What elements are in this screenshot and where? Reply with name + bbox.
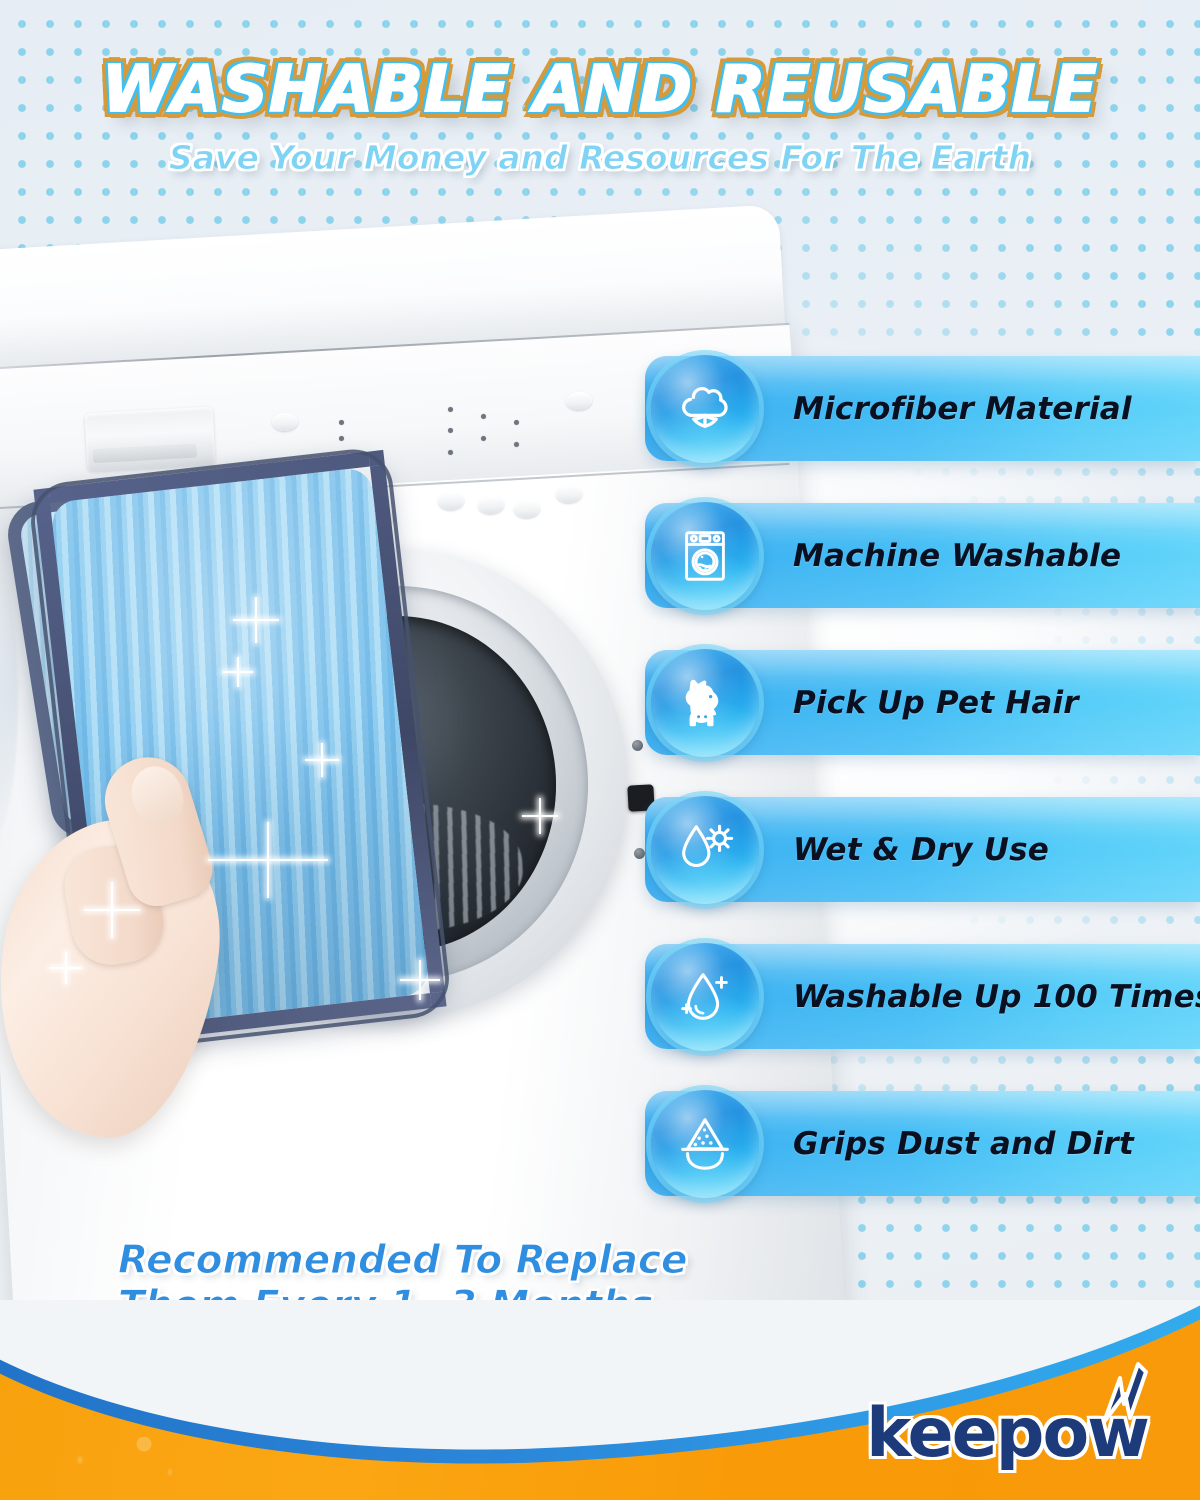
panel-indicator bbox=[339, 420, 344, 425]
feature-row-microfiber-material[interactable]: Microfiber Material bbox=[645, 356, 1200, 461]
feature-row-pick-up-pet-hair[interactable]: Pick Up Pet Hair bbox=[645, 650, 1200, 755]
feature-label: Pick Up Pet Hair bbox=[793, 685, 1079, 721]
panel-indicator bbox=[514, 420, 519, 425]
feature-row-wet-and-dry-use[interactable]: Wet & Dry Use bbox=[645, 797, 1200, 902]
panel-indicator bbox=[448, 407, 453, 412]
cotton-boll-icon bbox=[651, 355, 759, 463]
feature-row-washable-up-100-times[interactable]: Washable Up 100 Times bbox=[645, 944, 1200, 1049]
feature-list: Microfiber Material bbox=[645, 356, 1200, 1238]
feature-row-machine-washable[interactable]: Machine Washable bbox=[645, 503, 1200, 608]
panel-indicator bbox=[481, 414, 486, 419]
feature-label: Machine Washable bbox=[793, 538, 1121, 574]
panel-indicator bbox=[448, 450, 453, 455]
dust-grip-icon bbox=[651, 1090, 759, 1198]
dog-and-cat-icon bbox=[651, 649, 759, 757]
droplet-sparkle-icon bbox=[651, 943, 759, 1051]
panel-indicator bbox=[514, 442, 519, 447]
door-screw bbox=[632, 740, 643, 751]
infographic-page: WASHABLE AND REUSABLE Save Your Money an… bbox=[0, 0, 1200, 1500]
replacement-note-line1: Recommended To Replace bbox=[118, 1238, 687, 1283]
page-title: WASHABLE AND REUSABLE bbox=[102, 58, 1098, 122]
feature-label: Wet & Dry Use bbox=[793, 832, 1049, 868]
panel-indicator bbox=[481, 436, 486, 441]
detergent-drawer bbox=[84, 406, 215, 471]
feature-label: Microfiber Material bbox=[793, 391, 1132, 427]
page-subtitle: Save Your Money and Resources For The Ea… bbox=[0, 138, 1200, 177]
door-screw bbox=[634, 848, 645, 859]
header: WASHABLE AND REUSABLE Save Your Money an… bbox=[0, 58, 1200, 177]
footer-band: keepow bbox=[0, 1300, 1200, 1500]
feature-label: Washable Up 100 Times bbox=[793, 979, 1200, 1015]
panel-indicator bbox=[448, 428, 453, 433]
feature-row-grips-dust-and-dirt[interactable]: Grips Dust and Dirt bbox=[645, 1091, 1200, 1196]
washing-machine-icon bbox=[651, 502, 759, 610]
feature-label: Grips Dust and Dirt bbox=[793, 1126, 1134, 1162]
lightning-bolt-icon bbox=[1094, 1360, 1156, 1438]
droplet-and-sun-icon bbox=[651, 796, 759, 904]
hand-holding-pad bbox=[0, 740, 246, 1150]
panel-indicator bbox=[339, 436, 344, 441]
